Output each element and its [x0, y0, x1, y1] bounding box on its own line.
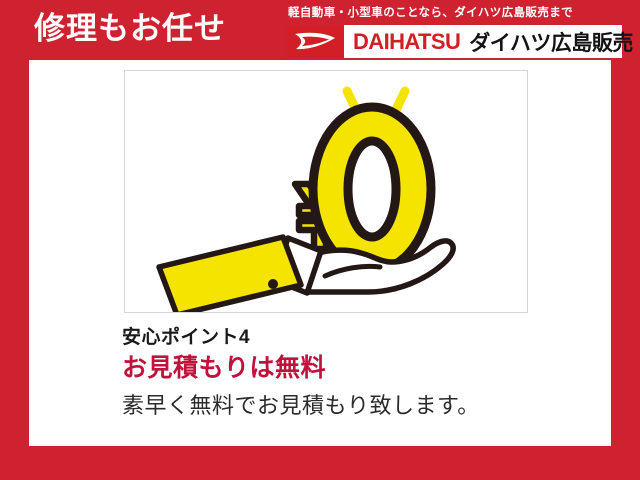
daihatsu-d-emblem-icon	[286, 25, 344, 58]
page-title: 修理もお任せ	[34, 9, 226, 49]
body-text: 素早く無料でお見積もり致します。	[122, 391, 592, 421]
header-band: 修理もお任せ 軽自動車・小型車のことなら、ダイハツ広島販売まで DAIHATSU…	[0, 0, 640, 60]
headline: お見積もりは無料	[122, 352, 592, 385]
brand-dealer-name: ダイハツ広島販売	[469, 27, 633, 57]
advertisement-slide: 修理もお任せ 軽自動車・小型車のことなら、ダイハツ広島販売まで DAIHATSU…	[0, 0, 640, 480]
brand-tagline: 軽自動車・小型車のことなら、ダイハツ広島販売まで	[288, 4, 573, 20]
content-panel: 安心ポイント4 お見積もりは無料 素早く無料でお見積もり致します。	[29, 60, 611, 446]
brand-logo-bar: DAIHATSU ダイハツ広島販売	[286, 25, 622, 58]
illustration-card	[124, 70, 528, 313]
zero-digit-icon	[313, 107, 431, 271]
text-block: 安心ポイント4 お見積もりは無料 素早く無料でお見積もり致します。	[122, 325, 592, 421]
point-label: 安心ポイント4	[122, 325, 592, 351]
yen-zero-on-palm-illustration	[125, 71, 527, 312]
brand-wordmark: DAIHATSU	[353, 29, 460, 55]
